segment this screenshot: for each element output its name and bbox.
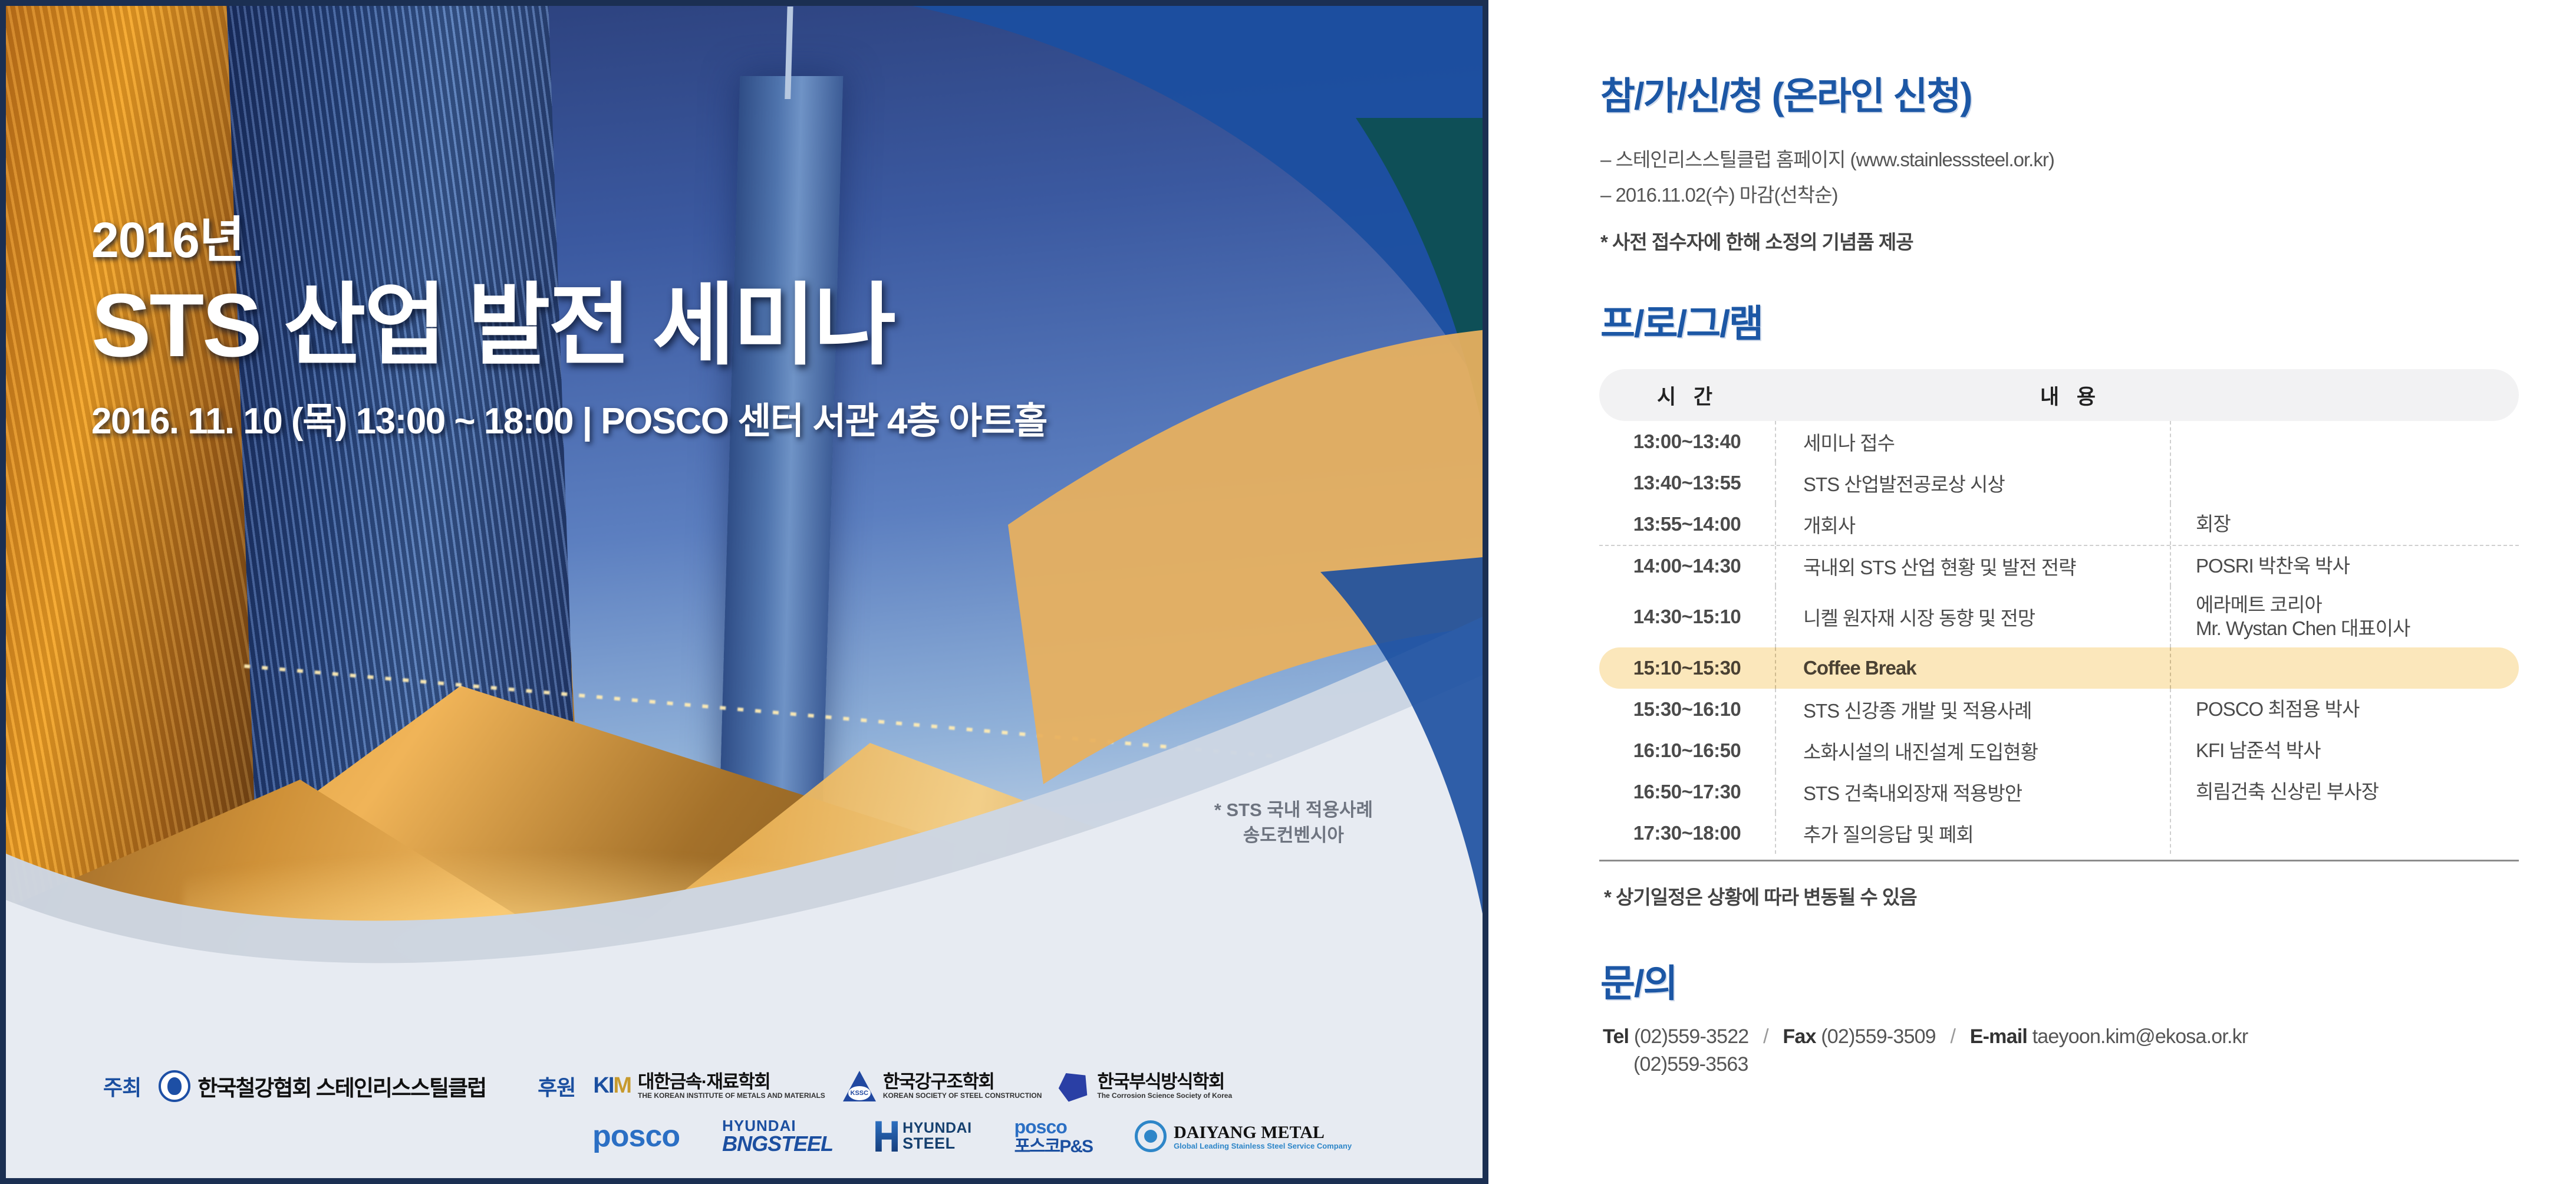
hyundai-h-icon [875, 1121, 898, 1152]
photo-credit-line1: * STS 국내 적용사례 [1214, 797, 1373, 823]
fax-label: Fax [1783, 1025, 1816, 1048]
kssc-name-en: KOREAN SOCIETY OF STEEL CONSTRUCTION [883, 1092, 1042, 1100]
support-label: 후원 [538, 1071, 575, 1101]
row-speaker: KFI 남준석 박사 [2171, 730, 2519, 771]
row-speaker [2171, 462, 2519, 504]
separator-2: / [1941, 1025, 1965, 1048]
pns-line2: 포스코P&S [1014, 1137, 1093, 1156]
photo-credit-line2: 송도컨벤시아 [1214, 823, 1373, 848]
row-speaker [2171, 421, 2519, 462]
program-table-header: 시 간 내 용 [1599, 369, 2519, 421]
row-speaker [2171, 813, 2519, 854]
apply-line-1: – 스테인리스스틸클럽 홈페이지 (www.stainlesssteel.or.… [1600, 144, 2541, 172]
cssk-name-en: The Corrosion Science Society of Korea [1097, 1092, 1232, 1100]
row-content: 국내외 STS 산업 현황 및 발전 전략 [1776, 546, 2171, 586]
tel-secondary: (02)559-3563 [1633, 1053, 2541, 1076]
apply-note: * 사전 접수자에 한해 소정의 기념품 제공 [1600, 226, 2541, 255]
row-content: 세미나 접수 [1776, 421, 2171, 462]
bng-bottom: BNGSTEEL [722, 1133, 833, 1155]
logo-posco: posco [592, 1119, 680, 1154]
sponsor-row-1: 주최 한국철강협회 스테인리스스틸클럽 후원 KIM 대한금속·재료학회 THE… [0, 1070, 1488, 1102]
logo-kosa: 한국철강협회 스테인리스스틸클럽 [159, 1070, 486, 1102]
hsteel-line2: STEEL [902, 1136, 971, 1152]
table-row: 13:55~14:00 개회사 회장 [1599, 504, 2519, 545]
daiyang-name: DAIYANG METAL [1174, 1123, 1352, 1142]
photo-credit: * STS 국내 적용사례 송도컨벤시아 [1214, 797, 1373, 848]
kssc-triangle-icon [843, 1071, 876, 1101]
poster-subtitle: 2016. 11. 10 (목) 13:00 ~ 18:00 | POSCO 센… [91, 391, 1047, 444]
kim-name-ko: 대한금속·재료학회 [638, 1073, 825, 1092]
program-section-title: 프/로/그/램 [1600, 294, 2541, 348]
table-row: 15:30~16:10 STS 신강종 개발 및 적용사례 POSCO 최점용 … [1599, 689, 2519, 730]
tel-label: Tel [1603, 1025, 1629, 1048]
logo-kim: KIM 대한금속·재료학회 THE KOREAN INSTITUTE OF ME… [593, 1073, 825, 1100]
column-header-time: 시 간 [1599, 380, 1776, 410]
apply-section-title: 참/가/신/청 (온라인 신청) [1600, 66, 2541, 120]
sponsor-section: 주최 한국철강협회 스테인리스스틸클럽 후원 KIM 대한금속·재료학회 THE… [0, 1070, 1488, 1184]
row-speaker: 희림건축 신상린 부사장 [2171, 771, 2519, 813]
logo-kssc: 한국강구조학회 KOREAN SOCIETY OF STEEL CONSTRUC… [843, 1071, 1042, 1101]
table-row: 16:10~16:50 소화시설의 내진설계 도입현황 KFI 남준석 박사 [1599, 730, 2519, 771]
row-content: 소화시설의 내진설계 도입현황 [1776, 730, 2171, 771]
row-speaker: 회장 [2171, 504, 2519, 545]
table-row: 14:30~15:10 니켈 원자재 시장 동향 및 전망 에라메트 코리아 M… [1599, 586, 2519, 647]
logo-bng-steel: HYUNDAI BNGSTEEL [722, 1118, 833, 1155]
info-panel: 참/가/신/청 (온라인 신청) – 스테인리스스틸클럽 홈페이지 (www.s… [1488, 0, 2576, 1184]
contact-section-title: 문/의 [1600, 953, 2541, 1008]
hsteel-line1: HYUNDAI [902, 1121, 971, 1136]
poster-year: 2016년 [91, 200, 1047, 272]
decorative-curves [6, 6, 1483, 1178]
row-content: STS 신강종 개발 및 적용사례 [1776, 689, 2171, 730]
row-speaker: POSRI 박찬욱 박사 [2171, 546, 2519, 586]
separator-1: / [1754, 1025, 1778, 1048]
row-speaker: 에라메트 코리아 Mr. Wystan Chen 대표이사 [2171, 586, 2519, 647]
poster-headline: 2016년 STS 산업 발전 세미나 2016. 11. 10 (목) 13:… [91, 200, 1047, 444]
logo-daiyang-metal: DAIYANG METAL Global Leading Stainless S… [1135, 1120, 1352, 1152]
kim-mark-icon: KIM [593, 1073, 631, 1099]
row-content: 추가 질의응답 및 폐회 [1776, 813, 2171, 854]
row-time: 13:40~13:55 [1599, 462, 1776, 504]
poster-visual-panel: 2016년 STS 산업 발전 세미나 2016. 11. 10 (목) 13:… [0, 0, 1488, 1184]
row-content: 개회사 [1776, 504, 2171, 545]
host-label: 주최 [103, 1071, 141, 1101]
table-row: 17:30~18:00 추가 질의응답 및 폐회 [1599, 813, 2519, 854]
table-row: 13:00~13:40 세미나 접수 [1599, 421, 2519, 462]
row-time: 16:50~17:30 [1599, 771, 1776, 813]
logo-hyundai-steel: HYUNDAI STEEL [875, 1121, 971, 1152]
daiyang-target-icon [1135, 1120, 1167, 1152]
pns-line1: posco [1014, 1117, 1093, 1137]
contact-line: Tel (02)559-3522 / Fax (02)559-3509 / E-… [1603, 1025, 2541, 1048]
column-header-content: 내 용 [1776, 380, 2519, 410]
row-time: 15:30~16:10 [1599, 689, 1776, 730]
apply-lines: – 스테인리스스틸클럽 홈페이지 (www.stainlesssteel.or.… [1600, 144, 2541, 208]
table-row: 16:50~17:30 STS 건축내외장재 적용방안 희림건축 신상린 부사장 [1599, 771, 2519, 813]
poster-title: STS 산업 발전 세미나 [91, 275, 1047, 376]
row-content: STS 건축내외장재 적용방안 [1776, 771, 2171, 813]
row-time: 13:55~14:00 [1599, 504, 1776, 545]
row-time: 14:30~15:10 [1599, 586, 1776, 647]
logo-cssk: 한국부식방식학회 The Corrosion Science Society o… [1059, 1071, 1232, 1101]
table-row: 14:00~14:30 국내외 STS 산업 현황 및 발전 전략 POSRI … [1599, 545, 2519, 586]
email-value[interactable]: taeyoon.kim@ekosa.or.kr [2033, 1025, 2248, 1048]
kim-name-en: THE KOREAN INSTITUTE OF METALS AND MATER… [638, 1092, 825, 1100]
row-time: 17:30~18:00 [1599, 813, 1776, 854]
row-speaker [2171, 647, 2519, 689]
cssk-name-ko: 한국부식방식학회 [1097, 1073, 1232, 1092]
apply-line-2: – 2016.11.02(수) 마감(선착순) [1600, 179, 2541, 208]
kssc-name-ko: 한국강구조학회 [883, 1073, 1042, 1092]
logo-posco-pns: posco 포스코P&S [1014, 1117, 1093, 1156]
table-row-coffee-break: 15:10~15:30 Coffee Break [1599, 647, 2519, 689]
row-time: 14:00~14:30 [1599, 546, 1776, 586]
row-content: Coffee Break [1776, 647, 2171, 689]
email-label: E-mail [1970, 1025, 2027, 1048]
row-time: 13:00~13:40 [1599, 421, 1776, 462]
program-note: * 상기일정은 상황에 따라 변동될 수 있음 [1604, 882, 2541, 910]
kosa-name: 한국철강협회 스테인리스스틸클럽 [197, 1070, 486, 1102]
poster-page: 2016년 STS 산업 발전 세미나 2016. 11. 10 (목) 13:… [0, 0, 2576, 1184]
row-speaker: POSCO 최점용 박사 [2171, 689, 2519, 730]
tel-value: (02)559-3522 [1634, 1025, 1749, 1048]
row-time: 15:10~15:30 [1599, 647, 1776, 689]
row-content: STS 산업발전공로상 시상 [1776, 462, 2171, 504]
kosa-seal-icon [159, 1070, 190, 1102]
table-bottom-rule [1599, 860, 2519, 861]
cssk-diamond-icon [1053, 1064, 1097, 1108]
table-row: 13:40~13:55 STS 산업발전공로상 시상 [1599, 462, 2519, 504]
program-table: 시 간 내 용 13:00~13:40 세미나 접수 13:40~13:55 S… [1599, 369, 2519, 861]
row-time: 16:10~16:50 [1599, 730, 1776, 771]
fax-value: (02)559-3509 [1821, 1025, 1936, 1048]
row-content: 니켈 원자재 시장 동향 및 전망 [1776, 586, 2171, 647]
sponsor-row-2: posco HYUNDAI BNGSTEEL HYUNDAI STEEL pos… [0, 1117, 1488, 1156]
daiyang-tagline: Global Leading Stainless Steel Service C… [1174, 1142, 1352, 1150]
